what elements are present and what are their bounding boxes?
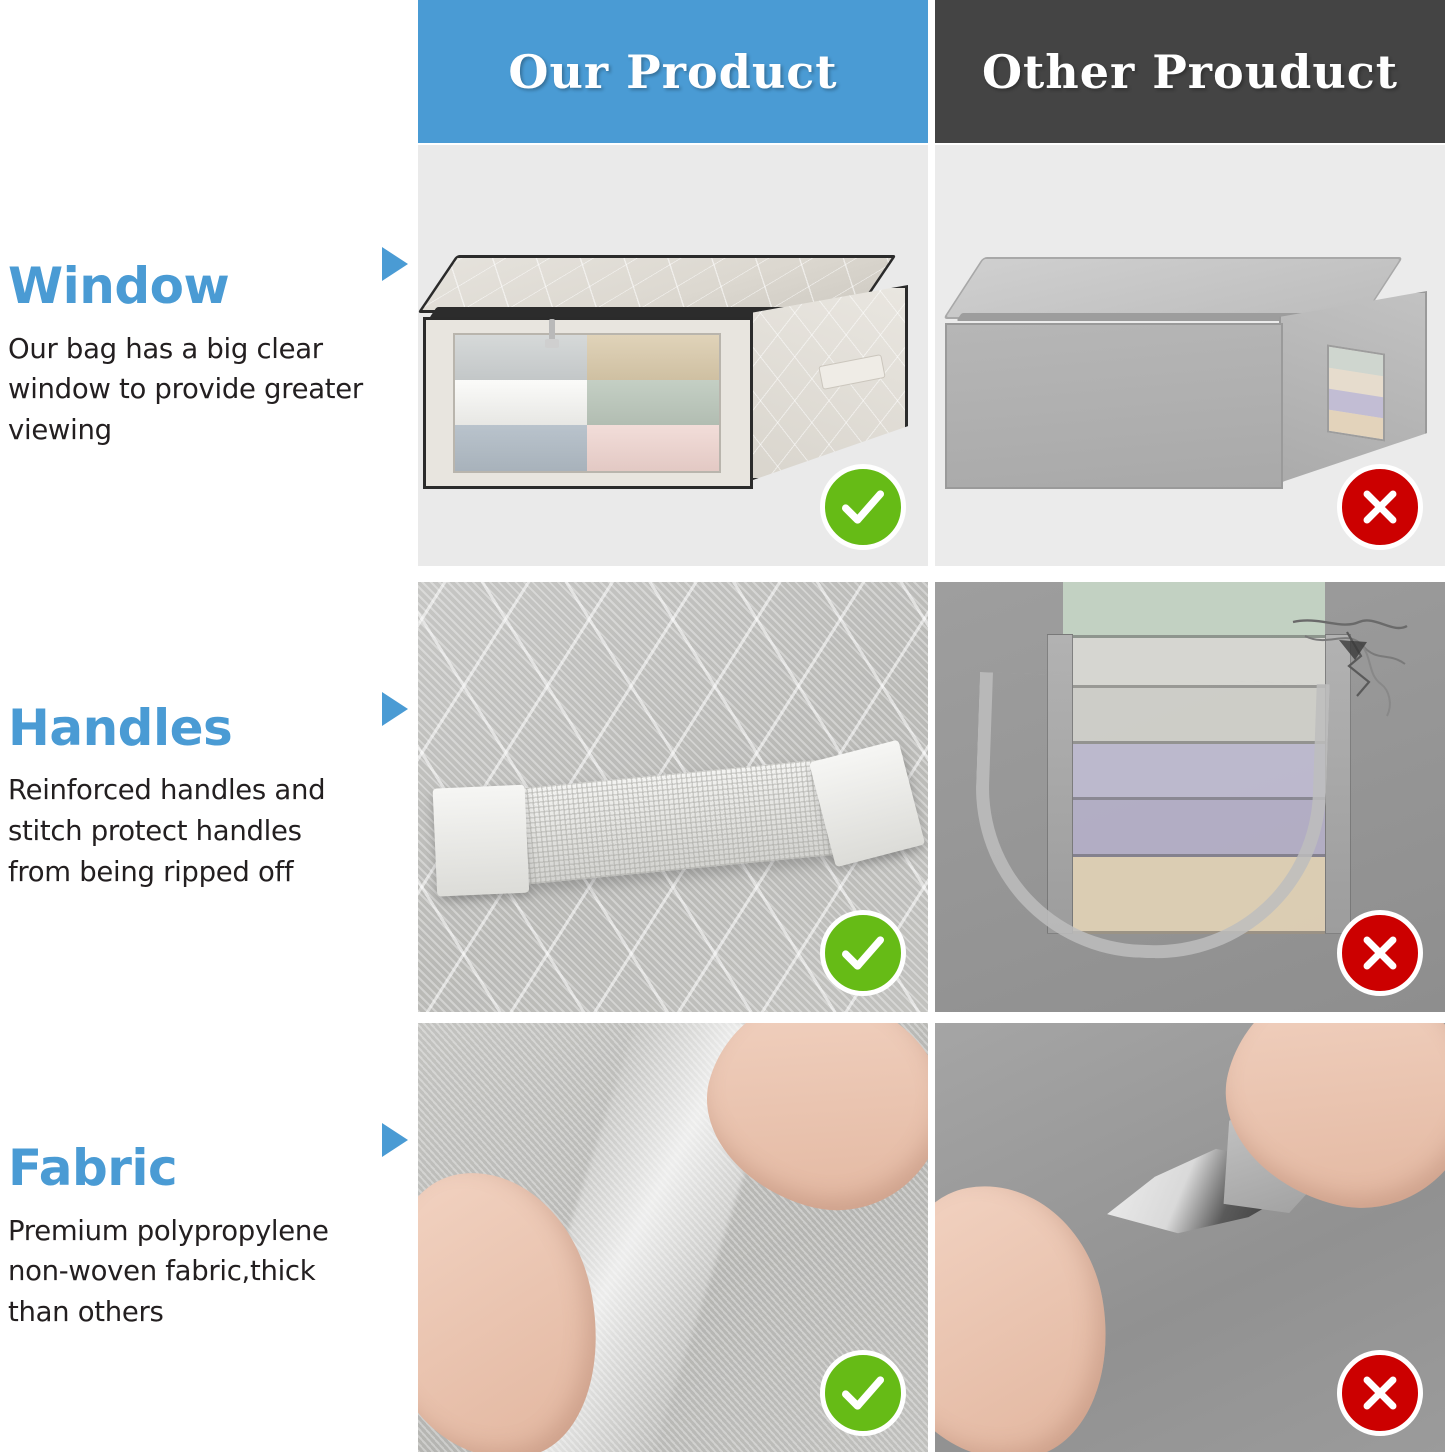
check-icon bbox=[837, 481, 889, 533]
row3-gutter bbox=[928, 1023, 935, 1452]
reinforced-handle-strap bbox=[436, 752, 911, 892]
cross-icon bbox=[1354, 481, 1406, 533]
row2-gutter bbox=[928, 582, 935, 1012]
photo-other-window bbox=[935, 145, 1445, 566]
cross-icon bbox=[1354, 927, 1406, 979]
feature-block-fabric: Fabric Premium polypropylene non-woven f… bbox=[0, 1023, 418, 1452]
feature-title-handles: Handles bbox=[8, 702, 376, 755]
bag-clear-window bbox=[453, 333, 721, 473]
feature-title-window: Window bbox=[8, 260, 376, 313]
arrow-right-icon bbox=[382, 1123, 408, 1157]
feature-block-handles: Handles Reinforced handles and stitch pr… bbox=[0, 582, 418, 1012]
cross-icon bbox=[1354, 1367, 1406, 1419]
arrow-right-icon bbox=[382, 692, 408, 726]
header-spacer bbox=[0, 0, 418, 143]
photo-other-fabric bbox=[935, 1023, 1445, 1452]
bag-zipper-pull bbox=[549, 319, 555, 345]
feature-description-window: Our bag has a big clear window to provid… bbox=[8, 329, 368, 451]
folded-blanket-white bbox=[455, 380, 587, 425]
other-storage-bag-illustration bbox=[945, 257, 1425, 505]
handle-stitch-tab-left bbox=[433, 785, 530, 897]
photo-our-handles bbox=[418, 582, 928, 1012]
arrow-right-icon bbox=[382, 247, 408, 281]
verdict-badge-check bbox=[820, 1350, 906, 1436]
feature-title-fabric: Fabric bbox=[8, 1142, 376, 1195]
frayed-threads-icon bbox=[1289, 612, 1409, 722]
frayed-stitching-icon bbox=[1289, 612, 1409, 722]
photo-other-handles bbox=[935, 582, 1445, 1012]
other-bag-small-window bbox=[1327, 344, 1385, 441]
header-other-product: Other Prouduct bbox=[935, 0, 1445, 143]
check-icon bbox=[837, 927, 889, 979]
row-divider-2 bbox=[0, 1012, 1445, 1023]
row-divider-1 bbox=[0, 566, 1445, 582]
check-icon bbox=[837, 1367, 889, 1419]
other-bag-front-panel bbox=[945, 323, 1283, 489]
handle-stitch-tab-right bbox=[809, 740, 925, 868]
header-our-product: Our Product bbox=[418, 0, 928, 143]
row1-gutter bbox=[928, 145, 935, 566]
feature-description-handles: Reinforced handles and stitch protect ha… bbox=[8, 770, 368, 892]
towel-green bbox=[1063, 582, 1325, 638]
hand-left bbox=[935, 1168, 1127, 1452]
photo-our-fabric bbox=[418, 1023, 928, 1452]
feature-description-fabric: Premium polypropylene non-woven fabric,t… bbox=[8, 1211, 368, 1333]
feature-block-window: Window Our bag has a big clear window to… bbox=[0, 145, 418, 566]
verdict-badge-check bbox=[820, 910, 906, 996]
our-storage-bag-illustration bbox=[423, 255, 911, 505]
header-other-product-label: Other Prouduct bbox=[982, 45, 1398, 99]
photo-our-window bbox=[418, 145, 928, 566]
folded-blanket-blue-gray bbox=[455, 425, 587, 471]
folded-blanket-sage bbox=[587, 380, 719, 425]
header-our-product-label: Our Product bbox=[508, 45, 837, 99]
folded-blanket-gray-top bbox=[455, 335, 587, 380]
verdict-badge-cross bbox=[1337, 910, 1423, 996]
header-gutter bbox=[928, 0, 935, 143]
folded-blanket-tan bbox=[587, 335, 719, 380]
verdict-badge-cross bbox=[1337, 464, 1423, 550]
product-comparison-infographic: Our Product Other Prouduct Window Our ba… bbox=[0, 0, 1445, 1452]
verdict-badge-cross bbox=[1337, 1350, 1423, 1436]
folded-blanket-pink bbox=[587, 425, 719, 471]
verdict-badge-check bbox=[820, 464, 906, 550]
